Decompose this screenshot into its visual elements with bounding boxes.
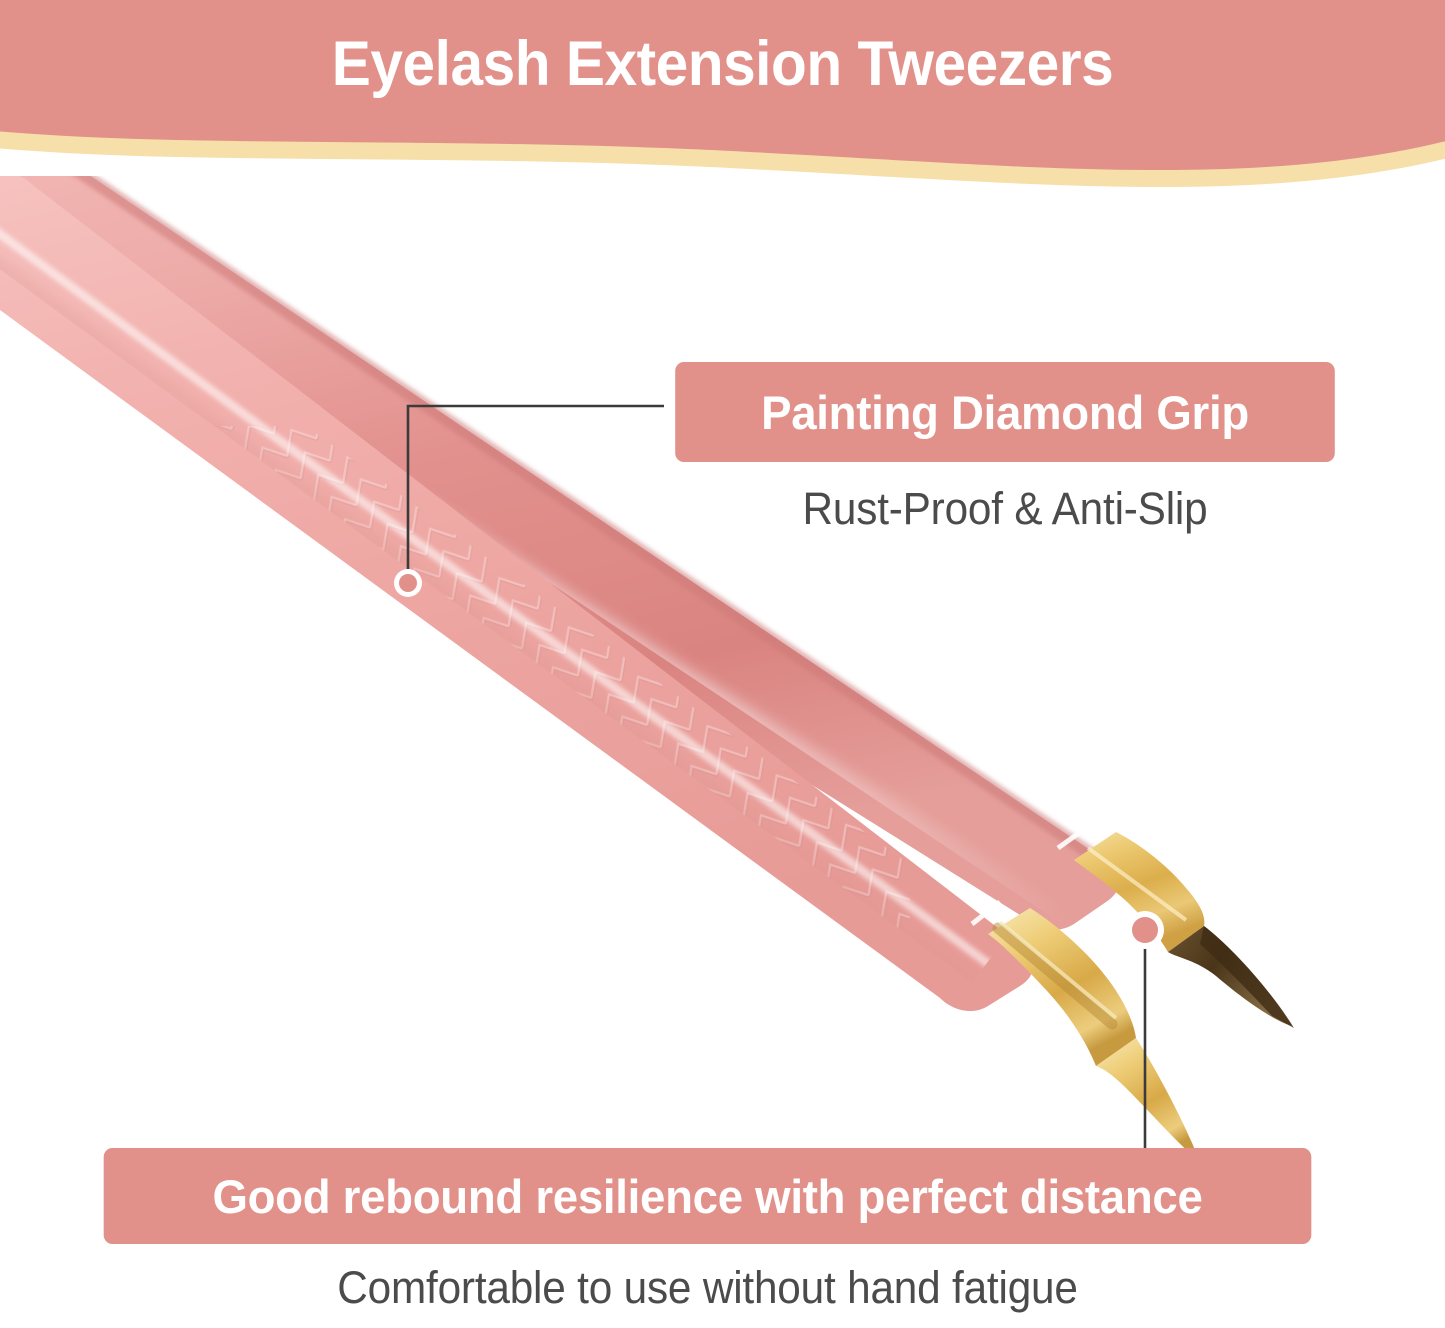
callout-subtitle-grip: Rust-Proof & Anti-Slip <box>685 483 1324 535</box>
callout-label-rebound: Good rebound resilience with perfect dis… <box>104 1148 1312 1244</box>
tweezer-upper-arm <box>0 176 1120 930</box>
product-image: Ms.W <box>0 176 1445 1186</box>
product-infographic: Eyelash Extension Tweezers <box>0 0 1445 1328</box>
header-banner: Eyelash Extension Tweezers <box>0 0 1445 200</box>
tweezer-lower-arm <box>0 176 1033 1066</box>
callout-label-grip: Painting Diamond Grip <box>675 362 1335 462</box>
page-title: Eyelash Extension Tweezers <box>51 28 1395 100</box>
callout-subtitle-rebound: Comfortable to use without hand fatigue <box>122 1262 1292 1314</box>
